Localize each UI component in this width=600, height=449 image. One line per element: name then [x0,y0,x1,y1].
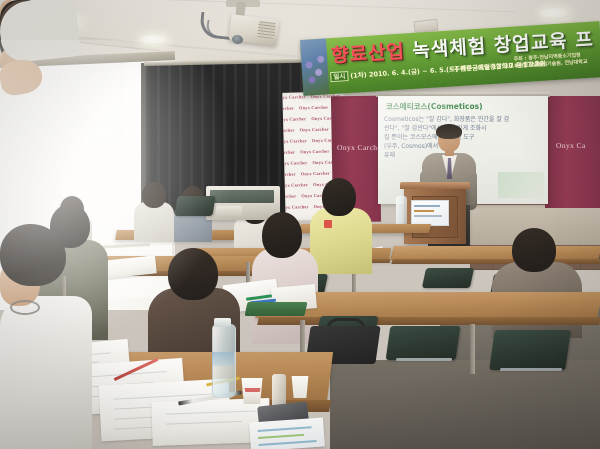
right-pillar [545,96,600,208]
podium-sign-line [414,210,434,212]
podium-sign-line [414,205,440,207]
backdrop-logo-text: Onyx Carcher [300,127,329,133]
attendee-head [168,248,218,300]
backdrop-logo-text: Onyx Carcher [301,171,330,177]
av-equipment-body [216,206,242,216]
chair [386,326,461,360]
leaflet-line [258,434,304,439]
banner-org-tag: 주관 [454,65,466,74]
leaflet-line [258,426,312,432]
attendee-badge [324,220,332,228]
attendee-hand [0,57,45,98]
green-tray [245,302,308,316]
backdrop-logo-text: Onyx Carcher [282,128,294,134]
chair-frame [396,358,452,361]
foreground-man-white-shirt [0,0,78,94]
backdrop-logo-text: Onyx Carcher [282,194,296,200]
backdrop-logo-text: Onyx Carcher [282,204,308,210]
downlight-icon [540,8,570,19]
leaflet-line [259,440,317,446]
backdrop-logo-text: Onyx Carcher [282,116,306,122]
attendee-head [142,182,166,208]
av-equipment-screen [210,190,274,203]
chair [422,268,474,288]
table-leg [470,324,475,374]
backdrop-logo-text: Onyx Carcher [282,106,294,112]
chair [489,330,571,370]
attendee-head [512,228,556,272]
leaflet-stack [249,417,325,449]
chair [174,196,215,216]
backdrop-logo-text: Onyx Carcher [300,149,329,155]
backdrop-logo-text: Onyx Carcher [282,182,308,188]
attendee-head [262,212,302,258]
paper-line [166,410,256,414]
backdrop-logo-text: Onyx Carcher [282,138,307,144]
paper-line [166,421,242,425]
attendee-torso [310,208,372,274]
table-edge [391,259,600,264]
seminar-room-photo: Onyx CarcherOnyx Carcher Onyx CarcherOny… [0,0,600,449]
attendee-arm [0,0,81,64]
backdrop-logo-text: Onyx Carcher [299,105,328,111]
paper-cup-stripe [244,388,261,392]
podium-sign [411,200,449,226]
attendee-torso [134,202,174,242]
table [390,246,600,260]
backdrop-logo-text: Onyx Carcher [282,160,307,166]
right-pillar-label: Onyx Ca [556,141,586,150]
bottle-label [212,352,234,366]
backdrop-logo-text: Onyx Carcher [282,94,305,100]
banner-title-red: 향료산업 [330,40,405,67]
eyeglasses-icon [10,300,40,315]
table-edge [257,317,600,325]
projector-vents [257,21,276,39]
downlight-icon [140,35,168,45]
attendee-torso [0,296,92,449]
presenter-hair [436,124,462,139]
backdrop-logo-text: Onyx Carcher [282,172,295,178]
chair-frame [500,368,562,371]
podium-top [400,182,470,189]
backdrop-logo-text: Onyx Carcher [282,150,295,156]
podium-sign-line [414,215,442,217]
banner-photo-panel [300,38,329,96]
bottle-cap [214,318,231,327]
banner-date-tag: 일시 [330,71,349,82]
floor-front [330,360,600,449]
attendee-head [322,178,356,216]
